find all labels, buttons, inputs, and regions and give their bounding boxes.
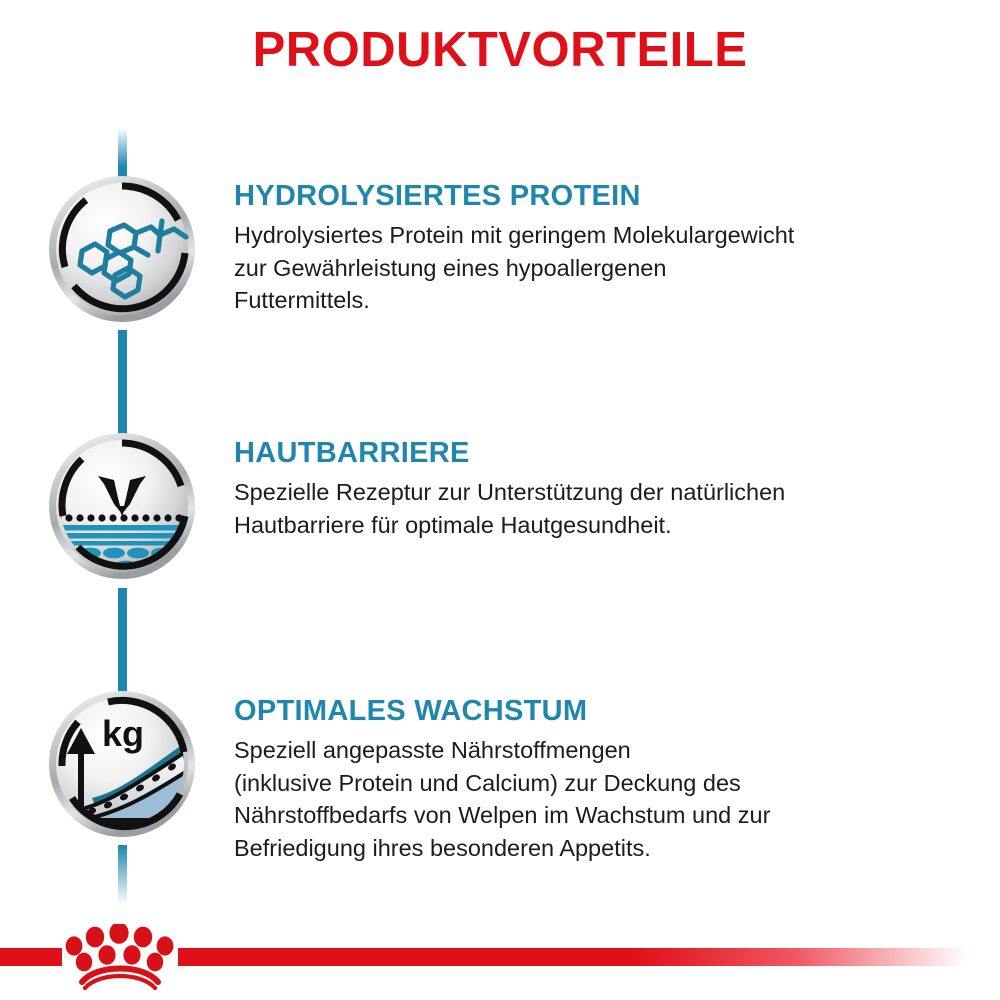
page-title: PRODUKTVORTEILE: [0, 22, 1000, 78]
royal-canin-logo: [62, 924, 178, 990]
kg-label: kg: [102, 713, 144, 754]
benefit-body-2: Spezielle Rezeptur zur Unterstützung der…: [234, 476, 974, 541]
benefit-heading-2: HAUTBARRIERE: [234, 438, 974, 468]
footer-bar-right: [178, 948, 968, 966]
benefit-icon-badge-1: [48, 175, 196, 323]
growth-chart-icon: kg: [48, 690, 196, 838]
connector-rail-segment-2: [118, 588, 127, 706]
connector-rail-segment-bottom: [118, 845, 127, 905]
benefit-icon-badge-3: kg: [48, 690, 196, 838]
benefit-heading-1: HYDROLYSIERTES PROTEIN: [234, 181, 974, 211]
benefit-heading-3: OPTIMALES WACHSTUM: [234, 696, 974, 726]
footer-bar-left: [0, 948, 62, 966]
benefit-text-block-2: HAUTBARRIERE Spezielle Rezeptur zur Unte…: [234, 438, 974, 541]
benefit-body-1: Hydrolysiertes Protein mit geringem Mole…: [234, 219, 974, 316]
skin-barrier-icon: [48, 432, 196, 580]
molecule-icon: [48, 175, 196, 323]
crown-icon: [62, 924, 178, 990]
footer: [0, 910, 1000, 1000]
benefit-body-3: Speziell angepasste Nährstoffmengen (ink…: [234, 734, 974, 864]
benefit-icon-badge-2: [48, 432, 196, 580]
connector-rail-segment-1: [118, 330, 127, 448]
benefit-text-block-3: OPTIMALES WACHSTUM Speziell angepasste N…: [234, 696, 974, 864]
benefit-text-block-1: HYDROLYSIERTES PROTEIN Hydrolysiertes Pr…: [234, 181, 974, 317]
